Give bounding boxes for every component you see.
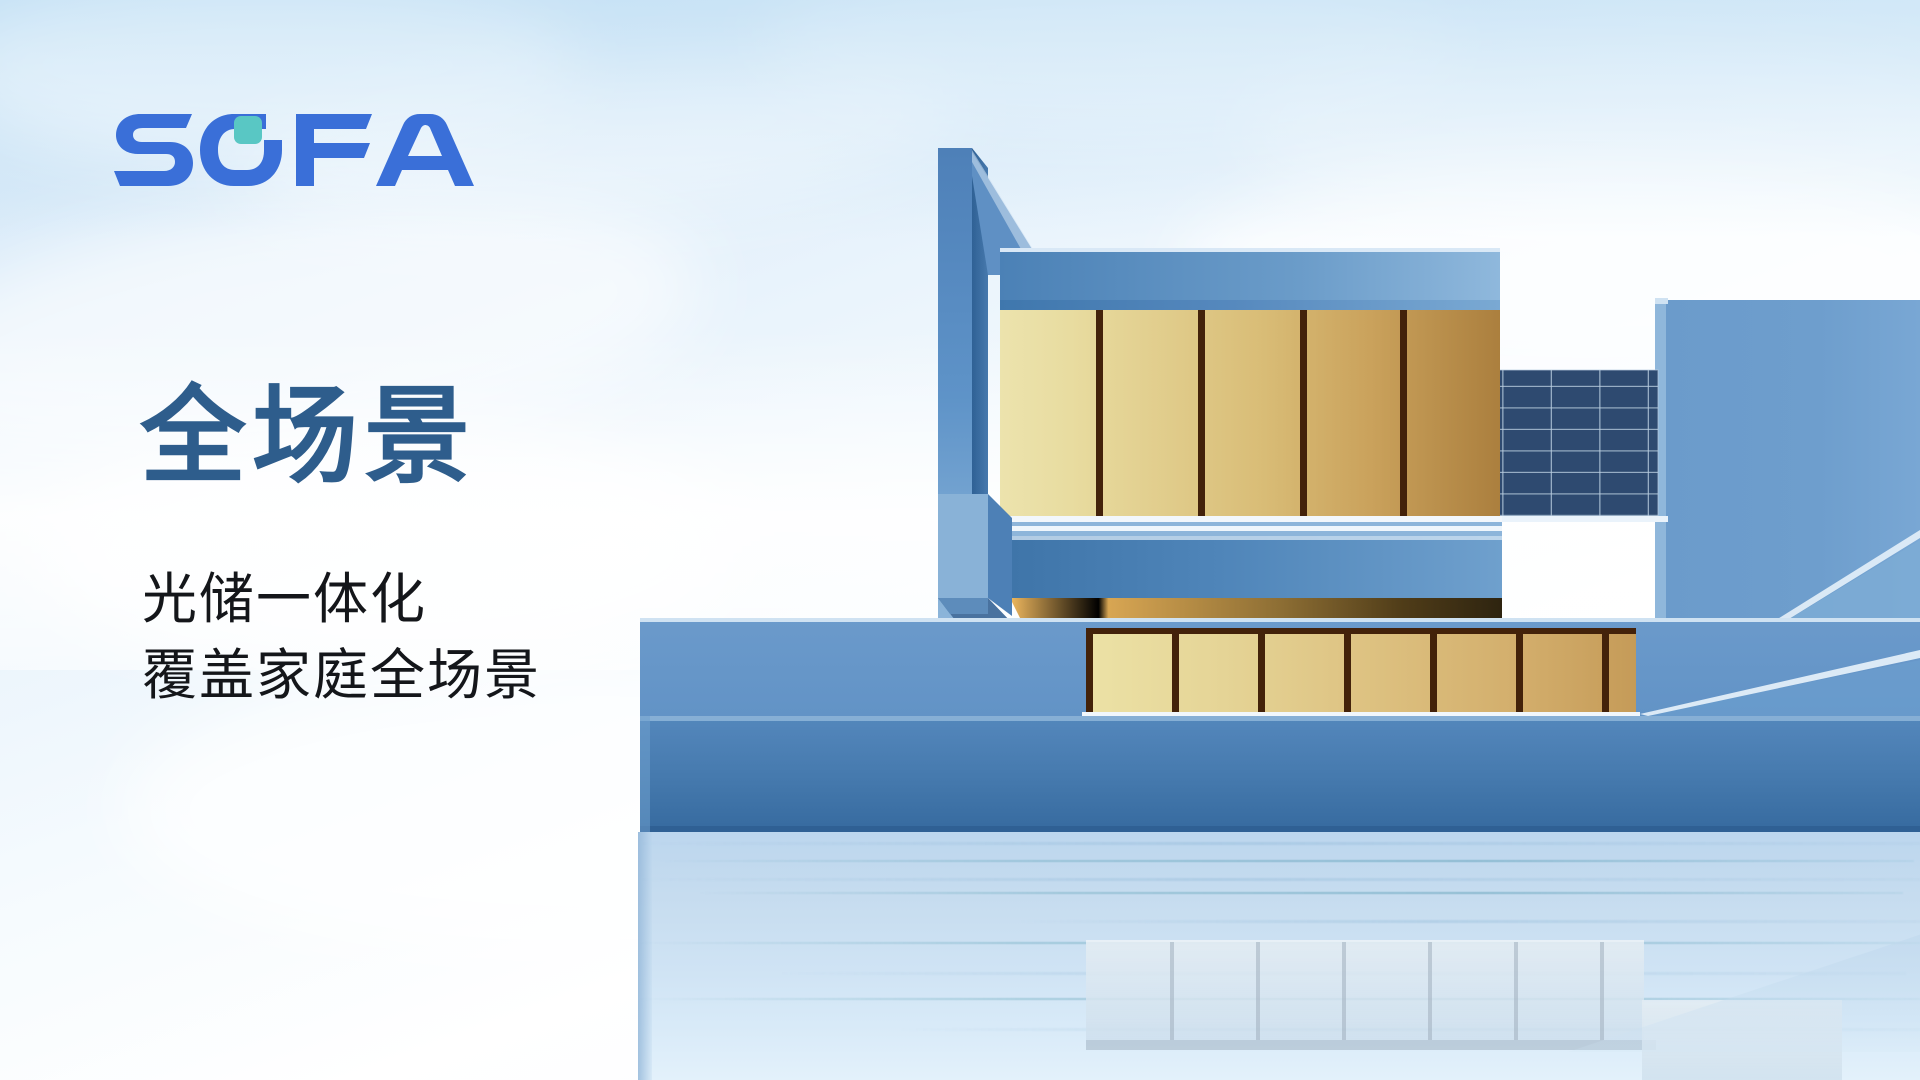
- sofar-logo[interactable]: [114, 110, 494, 190]
- reflected-mullion: [1256, 942, 1260, 1040]
- pool-left-edge: [638, 832, 652, 1080]
- water-ripple: [638, 842, 1920, 845]
- reflection-pool: [638, 832, 1920, 1080]
- reflected-mullion: [1428, 942, 1432, 1040]
- page-title: 全场景: [140, 378, 476, 497]
- water-ripple: [698, 892, 1903, 894]
- hero-subtitle-line-1: 光储一体化: [142, 562, 541, 638]
- hero-subtitle-line-2: 覆盖家庭全场景: [142, 638, 541, 714]
- water-ripple: [638, 878, 1920, 881]
- reflected-base-shadow: [1086, 1040, 1656, 1050]
- reflected-window-band: [1086, 940, 1644, 1040]
- banner-canvas: 全场景 光储一体化 覆盖家庭全场景: [0, 0, 1920, 1080]
- sofar-logo-mark: [114, 110, 486, 190]
- water-ripple: [658, 860, 1914, 862]
- reflected-mullion: [1600, 942, 1604, 1040]
- reflected-mullion: [1514, 942, 1518, 1040]
- hero-subtitle: 光储一体化 覆盖家庭全场景: [142, 562, 541, 714]
- logo-accent-square: [234, 116, 262, 144]
- reflected-mullion: [1170, 942, 1174, 1040]
- water-ripple: [1018, 920, 1920, 923]
- reflected-mullion: [1342, 942, 1346, 1040]
